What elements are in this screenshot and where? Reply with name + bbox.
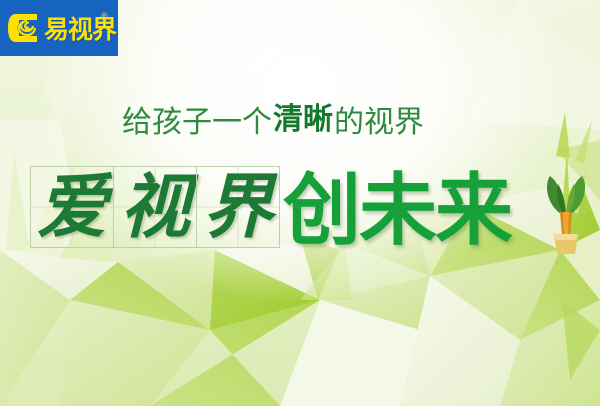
slogan-char: 爱 — [37, 172, 107, 242]
tagline-before: 给孩子一个 — [122, 108, 272, 138]
slogan-display-text: 创未来 — [283, 174, 511, 248]
slogan-calligraphy: 爱 视 界 — [30, 166, 279, 248]
tagline-after: 的视界 — [334, 108, 424, 138]
registered-mark: ® — [101, 12, 108, 21]
slogan-char: 视 — [120, 172, 190, 242]
grid-cell: 界 — [196, 166, 280, 248]
promo-banner: 易视界 ® 给孩子一个 清晰 的视界 爱 视 界 创未来 — [0, 0, 600, 406]
tagline-highlight-text: 清晰 — [273, 102, 333, 137]
tagline: 给孩子一个 清晰 的视界 — [122, 103, 424, 138]
slogan-char: 界 — [203, 172, 273, 242]
tagline-highlight: 清晰 — [272, 103, 334, 138]
slogan: 爱 视 界 创未来 — [30, 166, 511, 248]
brand-logo[interactable]: 易视界 ® — [0, 0, 118, 56]
e-eye-icon — [7, 11, 43, 45]
grid-cell: 视 — [113, 166, 197, 248]
potted-sprout-icon — [536, 150, 594, 255]
grid-cell: 爱 — [30, 166, 114, 248]
